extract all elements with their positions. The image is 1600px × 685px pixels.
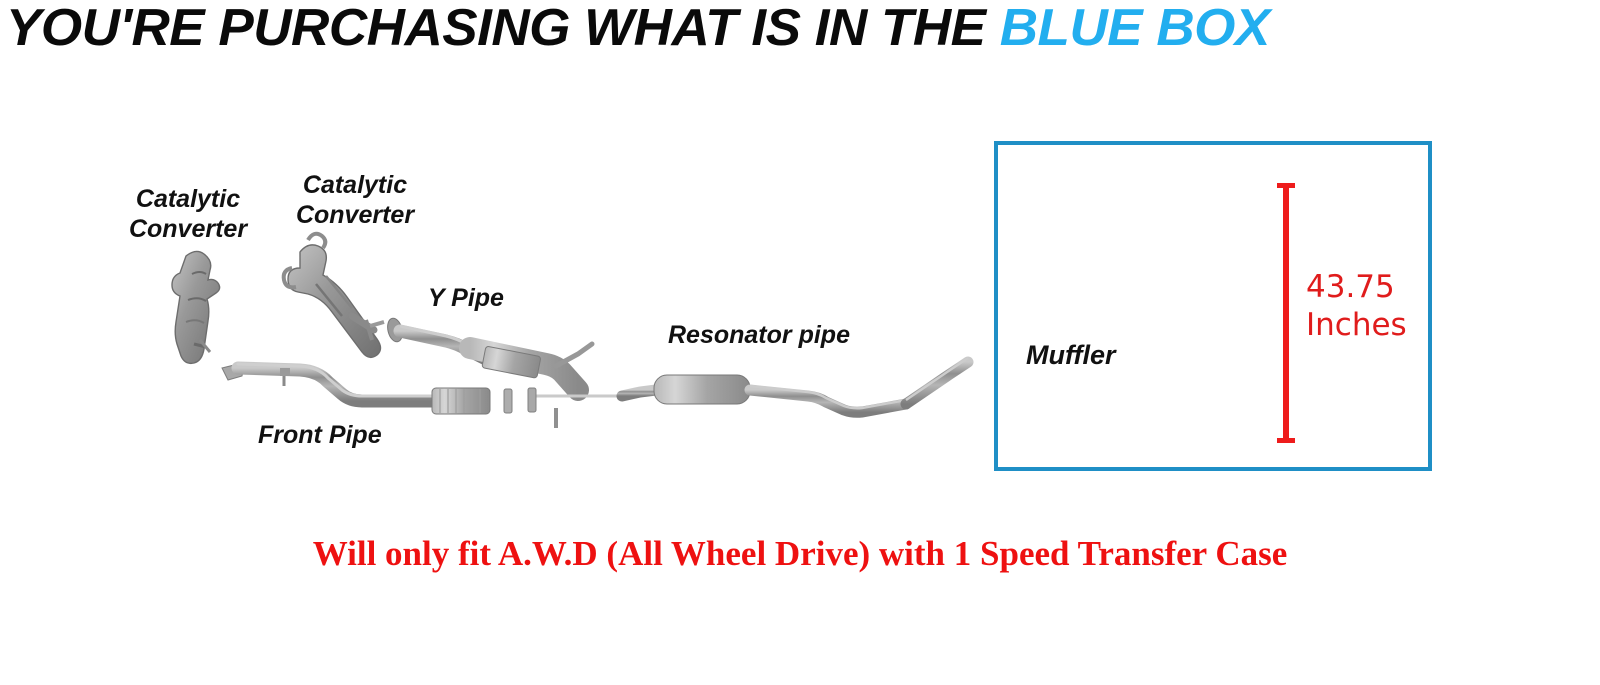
dimension-cap-bottom	[1277, 438, 1295, 443]
headline-blue-text: BLUE BOX	[1000, 0, 1270, 57]
label-muffler: Muffler	[1026, 340, 1166, 370]
label-resonator-pipe: Resonator pipe	[668, 320, 918, 350]
label-catalytic-converter-2: Catalytic Converter	[270, 170, 440, 230]
label-catalytic-converter-1: Catalytic Converter	[108, 184, 268, 244]
catalytic-converter-2-part	[284, 234, 384, 358]
label-y-pipe: Y Pipe	[428, 283, 548, 313]
front-pipe-part	[222, 364, 512, 414]
headline-black-text: YOU'RE PURCHASING WHAT IS IN THE	[6, 0, 1000, 57]
label-front-pipe: Front Pipe	[258, 420, 438, 450]
exhaust-system-diagram: YOU'RE PURCHASING WHAT IS IN THE BLUE BO…	[0, 0, 1600, 685]
fitment-notice: Will only fit A.W.D (All Wheel Drive) wi…	[0, 533, 1600, 575]
y-pipe-part	[385, 317, 620, 428]
catalytic-converter-1-part	[172, 251, 220, 363]
dimension-label: 43.75 Inches	[1306, 268, 1436, 344]
page-title: YOU'RE PURCHASING WHAT IS IN THE BLUE BO…	[6, 0, 1600, 56]
resonator-pipe-part	[622, 358, 968, 412]
dimension-line	[1277, 183, 1295, 443]
dimension-bar	[1283, 187, 1289, 439]
